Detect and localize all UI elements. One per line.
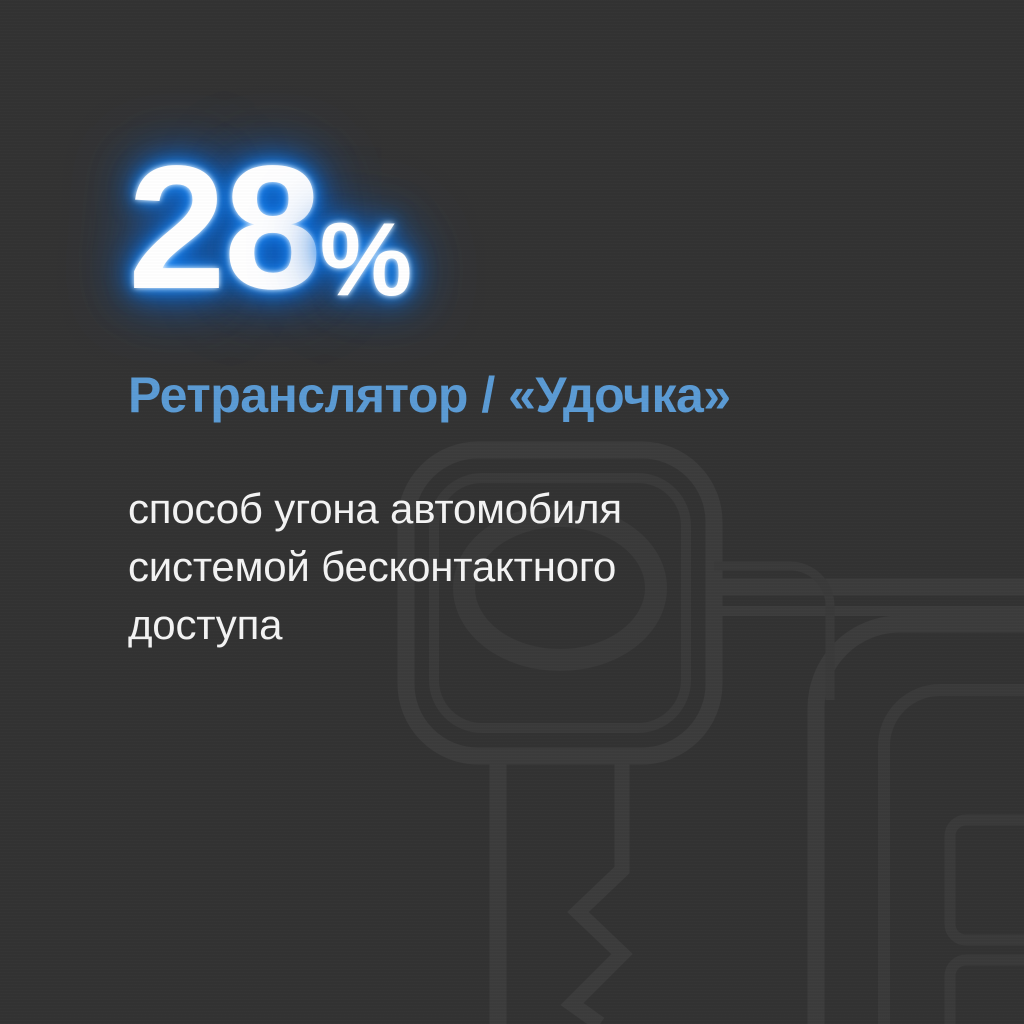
- description-line: системой бесконтактного: [128, 538, 828, 596]
- description-line: способ угона автомобиля: [128, 480, 828, 538]
- content-column: 28 % Ретранслятор / «Удочка» способ угон…: [128, 0, 948, 1024]
- remote-button-upper: [950, 820, 1024, 940]
- slide-canvas: 28 % Ретранслятор / «Удочка» способ угон…: [0, 0, 1024, 1024]
- remote-button-lower: [950, 960, 1024, 1024]
- description-block: способ угона автомобиля системой бесконт…: [128, 480, 828, 654]
- stat-unit: %: [320, 208, 411, 316]
- stat-block: 28 %: [128, 140, 411, 316]
- description-line: доступа: [128, 596, 828, 654]
- stat-value: 28: [128, 140, 320, 316]
- page-title: Ретранслятор / «Удочка»: [128, 366, 731, 424]
